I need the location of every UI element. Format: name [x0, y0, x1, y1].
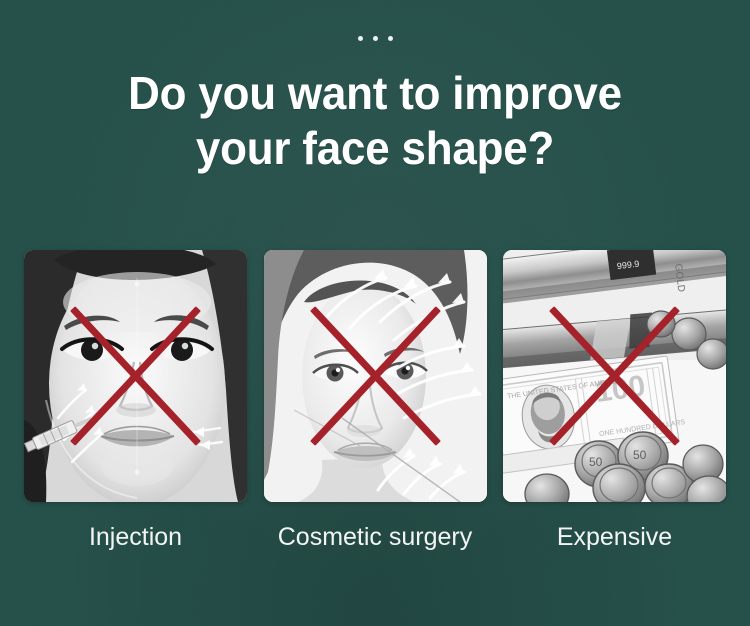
thumbnail-expensive: 999.9 GOLD — [503, 250, 726, 502]
page-title: Do you want to improve your face shape? — [17, 66, 733, 176]
cosmetic-surgery-photo — [264, 250, 487, 502]
svg-text:50: 50 — [589, 455, 603, 469]
thumbnail-injection — [24, 250, 247, 502]
thumbnail-cosmetic-surgery — [264, 250, 487, 502]
card-caption-injection: Injection — [24, 522, 247, 552]
injection-photo — [24, 250, 247, 502]
poster-canvas: Do you want to improve your face shape? — [0, 0, 750, 626]
dot-icon — [358, 36, 363, 41]
card-cosmetic-surgery[interactable]: Cosmetic surgery — [264, 250, 487, 552]
dot-icon — [388, 36, 393, 41]
card-caption-expensive: Expensive — [503, 522, 726, 552]
dots-decoration — [0, 36, 750, 41]
svg-text:50: 50 — [633, 448, 647, 462]
card-injection[interactable]: Injection — [24, 250, 247, 552]
card-expensive[interactable]: 999.9 GOLD — [503, 250, 726, 552]
page-title-line-2: your face shape? — [17, 121, 733, 176]
card-caption-cosmetic-surgery: Cosmetic surgery — [264, 522, 487, 552]
card-row: Injection — [24, 250, 726, 552]
page-title-line-1: Do you want to improve — [17, 66, 733, 121]
svg-text:100: 100 — [593, 369, 647, 409]
dot-icon — [373, 36, 378, 41]
money-photo: 999.9 GOLD — [503, 250, 726, 502]
